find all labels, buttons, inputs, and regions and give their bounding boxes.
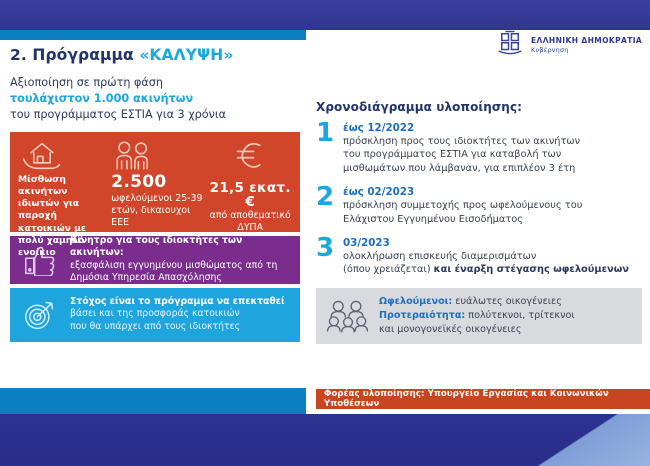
page-title-number: 2. Πρόγραμμα bbox=[10, 46, 139, 64]
timeline-number-1: 1 bbox=[316, 122, 334, 175]
timeline-date-1: έως 12/2022 bbox=[343, 122, 642, 134]
beneficiaries-label-1: Ωφελούμενοι: bbox=[379, 296, 452, 307]
timeline-title: Χρονοδιάγραμμα υλοποίησης: bbox=[316, 100, 642, 114]
timeline-desc-3-line-1: ολοκλήρωση επισκευής διαμερισμάτων bbox=[343, 251, 536, 262]
timeline-desc-3-line-2: (όπου χρειάζεται) bbox=[343, 264, 434, 275]
broadcast-bottom-band bbox=[0, 414, 650, 466]
stat-item-beneficiaries: 2.500 ωφελούμενοι 25-39 ετών, δικαιουχοι… bbox=[111, 139, 208, 226]
slide-top-accent-bar bbox=[0, 30, 306, 40]
stat-beneficiaries-text: ωφελούμενοι 25-39 ετών, δικαιουχοι ΕΕΕ bbox=[111, 193, 208, 229]
house-in-hand-icon bbox=[18, 139, 111, 173]
euro-icon bbox=[208, 139, 292, 173]
callout-goal-text: Στόχος είναι το πρόγραμμα να επεκταθεί β… bbox=[70, 296, 285, 334]
right-column: Χρονοδιάγραμμα υλοποίησης: 1 έως 12/2022… bbox=[316, 100, 642, 344]
timeline-body-3: 03/2023 ολοκλήρωση επισκευής διαμερισμάτ… bbox=[343, 237, 642, 277]
callout-goal-strong: Στόχος είναι το πρόγραμμα να επεκταθεί bbox=[70, 296, 285, 307]
stat-budget-text: από αποθεματικό ΔΥΠΑ bbox=[208, 210, 292, 234]
timeline-item-2: 2 έως 02/2023 πρόσκληση συμμετοχής προς … bbox=[316, 186, 642, 226]
timeline-body-1: έως 12/2022 πρόσκληση προς τους ιδιοκτήτ… bbox=[343, 122, 642, 175]
target-arrow-icon bbox=[18, 299, 62, 331]
timeline-desc-1-line-3: μισθωμάτων που λάμβαναν, για επιπλέον 3 … bbox=[343, 163, 575, 174]
intro-paragraph: Αξιοποίηση σε πρώτη φάση τουλάχιστον 1.0… bbox=[10, 75, 300, 123]
beneficiaries-value-2: πολύτεκνοι, τρίτεκνοι bbox=[465, 310, 574, 321]
government-logo: ΕΛΛΗΝΙΚΗ ΔΗΜΟΚΡΑΤΙΑ Κυβέρνηση bbox=[495, 27, 642, 57]
broadcast-slide: ΕΛΛΗΝΙΚΗ ΔΗΜΟΚΡΑΤΙΑ Κυβέρνηση 2. Πρόγραμ… bbox=[0, 0, 650, 466]
logo-title: ΕΛΛΗΝΙΚΗ ΔΗΜΟΚΡΑΤΙΑ bbox=[531, 36, 642, 45]
timeline-desc-1-line-2: του προγράμματος ΕΣΤΙΑ για καταβολή των bbox=[343, 149, 561, 160]
timeline-item-1: 1 έως 12/2022 πρόσκληση προς τους ιδιοκτ… bbox=[316, 122, 642, 175]
timeline-number-3: 3 bbox=[316, 237, 334, 277]
intro-line-3: του προγράμματος ΕΣΤΙΑ για 3 χρόνια bbox=[10, 107, 300, 123]
callout-goal-line-1: βάσει και της προσφοράς κατοικιών bbox=[70, 308, 240, 319]
callout-goal: Στόχος είναι το πρόγραμμα να επεκταθεί β… bbox=[10, 288, 300, 342]
timeline-desc-2-line-1: πρόσκληση συμμετοχής προς ωφελούμενους τ… bbox=[343, 200, 582, 211]
page-title-accent: «ΚΑΛΥΨΗ» bbox=[139, 46, 233, 64]
stat-budget-amount: 21,5 εκατ. € bbox=[208, 181, 292, 209]
callout-goal-line-2: που θα υπάρχει από τους ιδιοκτήτες bbox=[70, 321, 240, 332]
timeline-desc-1: πρόσκληση προς τους ιδιοκτήτες των ακινή… bbox=[343, 135, 642, 175]
stat-beneficiaries-number: 2.500 bbox=[111, 174, 208, 192]
timeline-desc-2: πρόσκληση συμμετοχής προς ωφελούμενους τ… bbox=[343, 199, 642, 226]
logo-subtitle: Κυβέρνηση bbox=[531, 47, 642, 54]
two-people-icon bbox=[111, 139, 208, 173]
timeline-date-2: έως 02/2023 bbox=[343, 186, 642, 198]
intro-line-1: Αξιοποίηση σε πρώτη φάση bbox=[10, 75, 300, 91]
timeline-date-3: 03/2023 bbox=[343, 237, 642, 249]
timeline-desc-1-line-1: πρόσκληση προς τους ιδιοκτήτες των ακινή… bbox=[343, 136, 580, 147]
page-title: 2. Πρόγραμμα «ΚΑΛΥΨΗ» bbox=[10, 46, 300, 64]
decorative-diagonal bbox=[486, 414, 650, 466]
slide-bottom-accent-bar bbox=[0, 388, 306, 414]
greek-republic-emblem-icon bbox=[495, 27, 525, 57]
family-group-icon bbox=[325, 298, 371, 334]
timeline-desc-3: ολοκλήρωση επισκευής διαμερισμάτων (όπου… bbox=[343, 250, 642, 277]
stats-box: Μίσθωση ακινήτων ιδιωτών για παροχή κατο… bbox=[10, 132, 300, 232]
intro-highlight: τουλάχιστον 1.000 ακινήτων bbox=[10, 91, 300, 107]
callout-owner-line-2: Δημόσια Υπηρεσία Απασχόλησης bbox=[70, 272, 222, 283]
timeline-item-3: 3 03/2023 ολοκλήρωση επισκευής διαμερισμ… bbox=[316, 237, 642, 277]
callout-owner-line-1: εξασφάλιση εγγυημένου μισθώματος από τη bbox=[70, 260, 277, 271]
beneficiaries-text: Ωφελούμενοι: ευάλωτες οικογένειες Προτερ… bbox=[379, 295, 575, 336]
beneficiaries-value-1: ευάλωτες οικογένειες bbox=[452, 296, 562, 307]
logo-text-block: ΕΛΛΗΝΙΚΗ ΔΗΜΟΚΡΑΤΙΑ Κυβέρνηση bbox=[531, 30, 642, 55]
timeline-desc-2-line-2: Ελάχιστου Εγγυημένου Εισοδήματος bbox=[343, 214, 523, 225]
broadcast-top-band bbox=[0, 0, 650, 30]
left-column: 2. Πρόγραμμα «ΚΑΛΥΨΗ» Αξιοποίηση σε πρώτ… bbox=[10, 46, 300, 342]
beneficiaries-box: Ωφελούμενοι: ευάλωτες οικογένειες Προτερ… bbox=[316, 288, 642, 344]
timeline-desc-3-bold: και έναρξη στέγασης ωφελούμενων bbox=[434, 264, 629, 275]
timeline-number-2: 2 bbox=[316, 186, 334, 226]
timeline-body-2: έως 02/2023 πρόσκληση συμμετοχής προς ωφ… bbox=[343, 186, 642, 226]
beneficiaries-line-3: και μονογονεϊκές οικογένειες bbox=[379, 324, 521, 335]
stat-item-budget: 21,5 εκατ. € από αποθεματικό ΔΥΠΑ bbox=[208, 139, 292, 226]
beneficiaries-label-2: Προτεραιότητα: bbox=[379, 310, 465, 321]
implementing-body-footer: Φορέας υλοποίησης: Υπουργείο Εργασίας κα… bbox=[316, 389, 650, 409]
stat-item-housing: Μίσθωση ακινήτων ιδιωτών για παροχή κατο… bbox=[18, 139, 111, 226]
stat-housing-text: Μίσθωση ακινήτων ιδιωτών για παροχή κατο… bbox=[18, 174, 111, 260]
